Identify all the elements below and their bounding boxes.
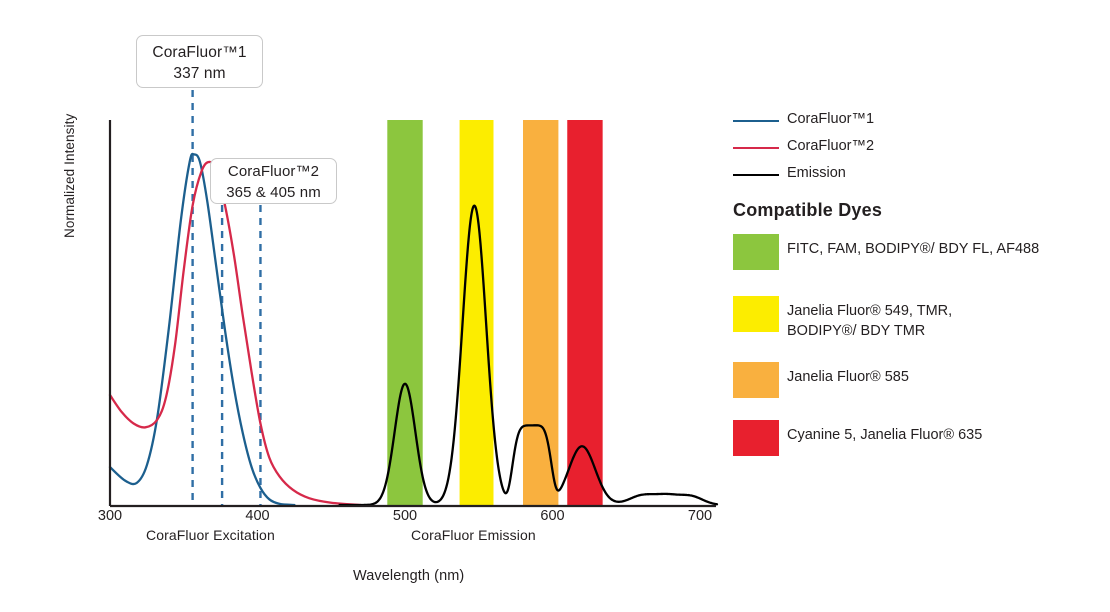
legend-line-label-0: CoraFluor™1: [787, 111, 874, 127]
line-legend: CoraFluor™1CoraFluor™2Emission: [733, 108, 1093, 189]
legend-line-label-2: Emission: [787, 165, 846, 181]
callout-corafluor2: CoraFluor™2 365 & 405 nm: [210, 158, 337, 204]
dye-label-1: Janelia Fluor® 549, TMR, BODIPY®/ BDY TM…: [787, 301, 952, 342]
filter-band-orange: [523, 120, 558, 505]
legend-line-label-1: CoraFluor™2: [787, 138, 874, 154]
legend-line-swatch-1: [733, 147, 779, 149]
dye-color-swatch-3: [733, 420, 779, 456]
excitation-region-label: CoraFluor Excitation: [146, 527, 275, 543]
callout-corafluor1-line1: CoraFluor™1: [152, 44, 246, 61]
x-tick-500: 500: [385, 508, 425, 524]
dye-row-3: Cyanine 5, Janelia Fluor® 635: [733, 420, 1103, 482]
dye-label-0: FITC, FAM, BODIPY®/ BDY FL, AF488: [787, 239, 1039, 259]
legend-line-swatch-0: [733, 120, 779, 122]
legend-row-0: CoraFluor™1: [733, 108, 1093, 135]
legend-line-swatch-2: [733, 174, 779, 176]
legend-row-2: Emission: [733, 162, 1093, 189]
x-tick-400: 400: [238, 508, 278, 524]
dye-color-swatch-1: [733, 296, 779, 332]
dye-color-swatch-0: [733, 234, 779, 270]
callout-corafluor1-line2: 337 nm: [137, 63, 262, 84]
emission-region-label: CoraFluor Emission: [411, 527, 536, 543]
x-tick-600: 600: [533, 508, 573, 524]
x-tick-300: 300: [90, 508, 130, 524]
callout-corafluor2-line2: 365 & 405 nm: [211, 183, 336, 204]
legend-row-1: CoraFluor™2: [733, 135, 1093, 162]
dye-color-swatch-2: [733, 362, 779, 398]
dye-row-1: Janelia Fluor® 549, TMR, BODIPY®/ BDY TM…: [733, 296, 1103, 358]
callout-corafluor2-line1: CoraFluor™2: [228, 163, 319, 180]
dye-label-2: Janelia Fluor® 585: [787, 367, 909, 387]
y-axis-title: Normalized Intensity: [62, 114, 77, 238]
dye-label-3: Cyanine 5, Janelia Fluor® 635: [787, 425, 982, 445]
filter-band-yellow: [460, 120, 494, 505]
callout-corafluor1: CoraFluor™1 337 nm: [136, 35, 263, 88]
x-tick-700: 700: [680, 508, 720, 524]
dye-row-2: Janelia Fluor® 585: [733, 362, 1103, 424]
dye-row-0: FITC, FAM, BODIPY®/ BDY FL, AF488: [733, 234, 1103, 296]
compatible-dyes-heading: Compatible Dyes: [733, 200, 882, 221]
x-axis-title: Wavelength (nm): [353, 568, 464, 584]
